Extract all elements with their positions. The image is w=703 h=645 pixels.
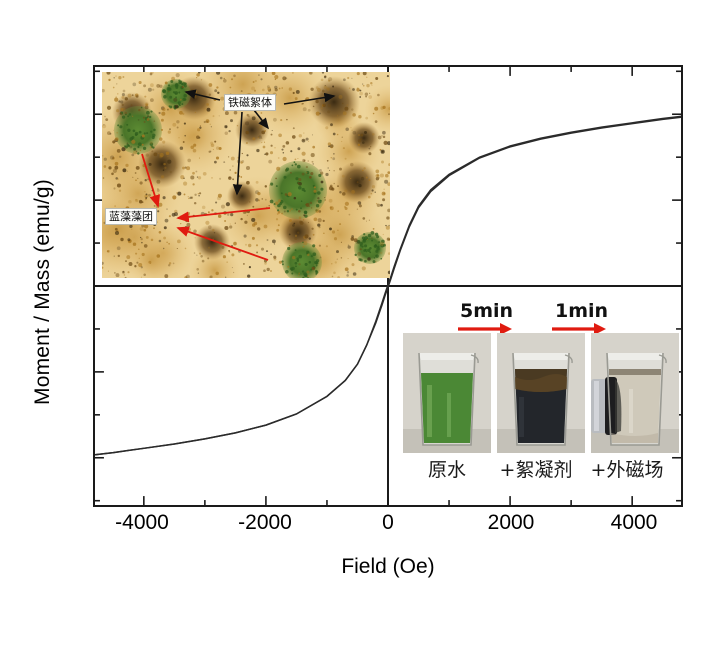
beaker-photo-3 (591, 333, 679, 453)
x-axis-title: Field (Oe) (93, 555, 683, 579)
microscopy-inset: 铁磁絮体 蓝藻藻团 (102, 72, 390, 278)
beaker-photo-inset: 5min 1min (400, 300, 683, 490)
x-tick-label: -4000 (87, 512, 197, 533)
x-tick-label: 4000 (579, 512, 689, 533)
beaker-flocculant (497, 333, 585, 453)
x-tick-label: -2000 (210, 512, 320, 533)
beaker-caption-magnetic-field: +外磁场 (572, 455, 682, 482)
magnet-icon (591, 377, 617, 435)
beaker-raw-water (403, 333, 491, 453)
y-axis-title: Moment / Mass (emu/g) (31, 142, 55, 442)
step-label-5min: 5min (460, 300, 513, 322)
x-tick-label: 2000 (456, 512, 566, 533)
microscopy-label-ferro: 铁磁絮体 (224, 94, 276, 111)
beaker-photo-2 (497, 333, 585, 453)
figure-root: Moment / Mass (emu/g) 4 2 0 -2 -4 -4000 … (0, 0, 703, 645)
microscopy-label-algae: 蓝藻藻团 (105, 208, 157, 225)
beaker-magnetic-separation (591, 333, 679, 453)
x-tick-label: 0 (333, 512, 443, 533)
step-label-1min: 1min (555, 300, 608, 322)
beaker-photo-1 (403, 333, 491, 453)
